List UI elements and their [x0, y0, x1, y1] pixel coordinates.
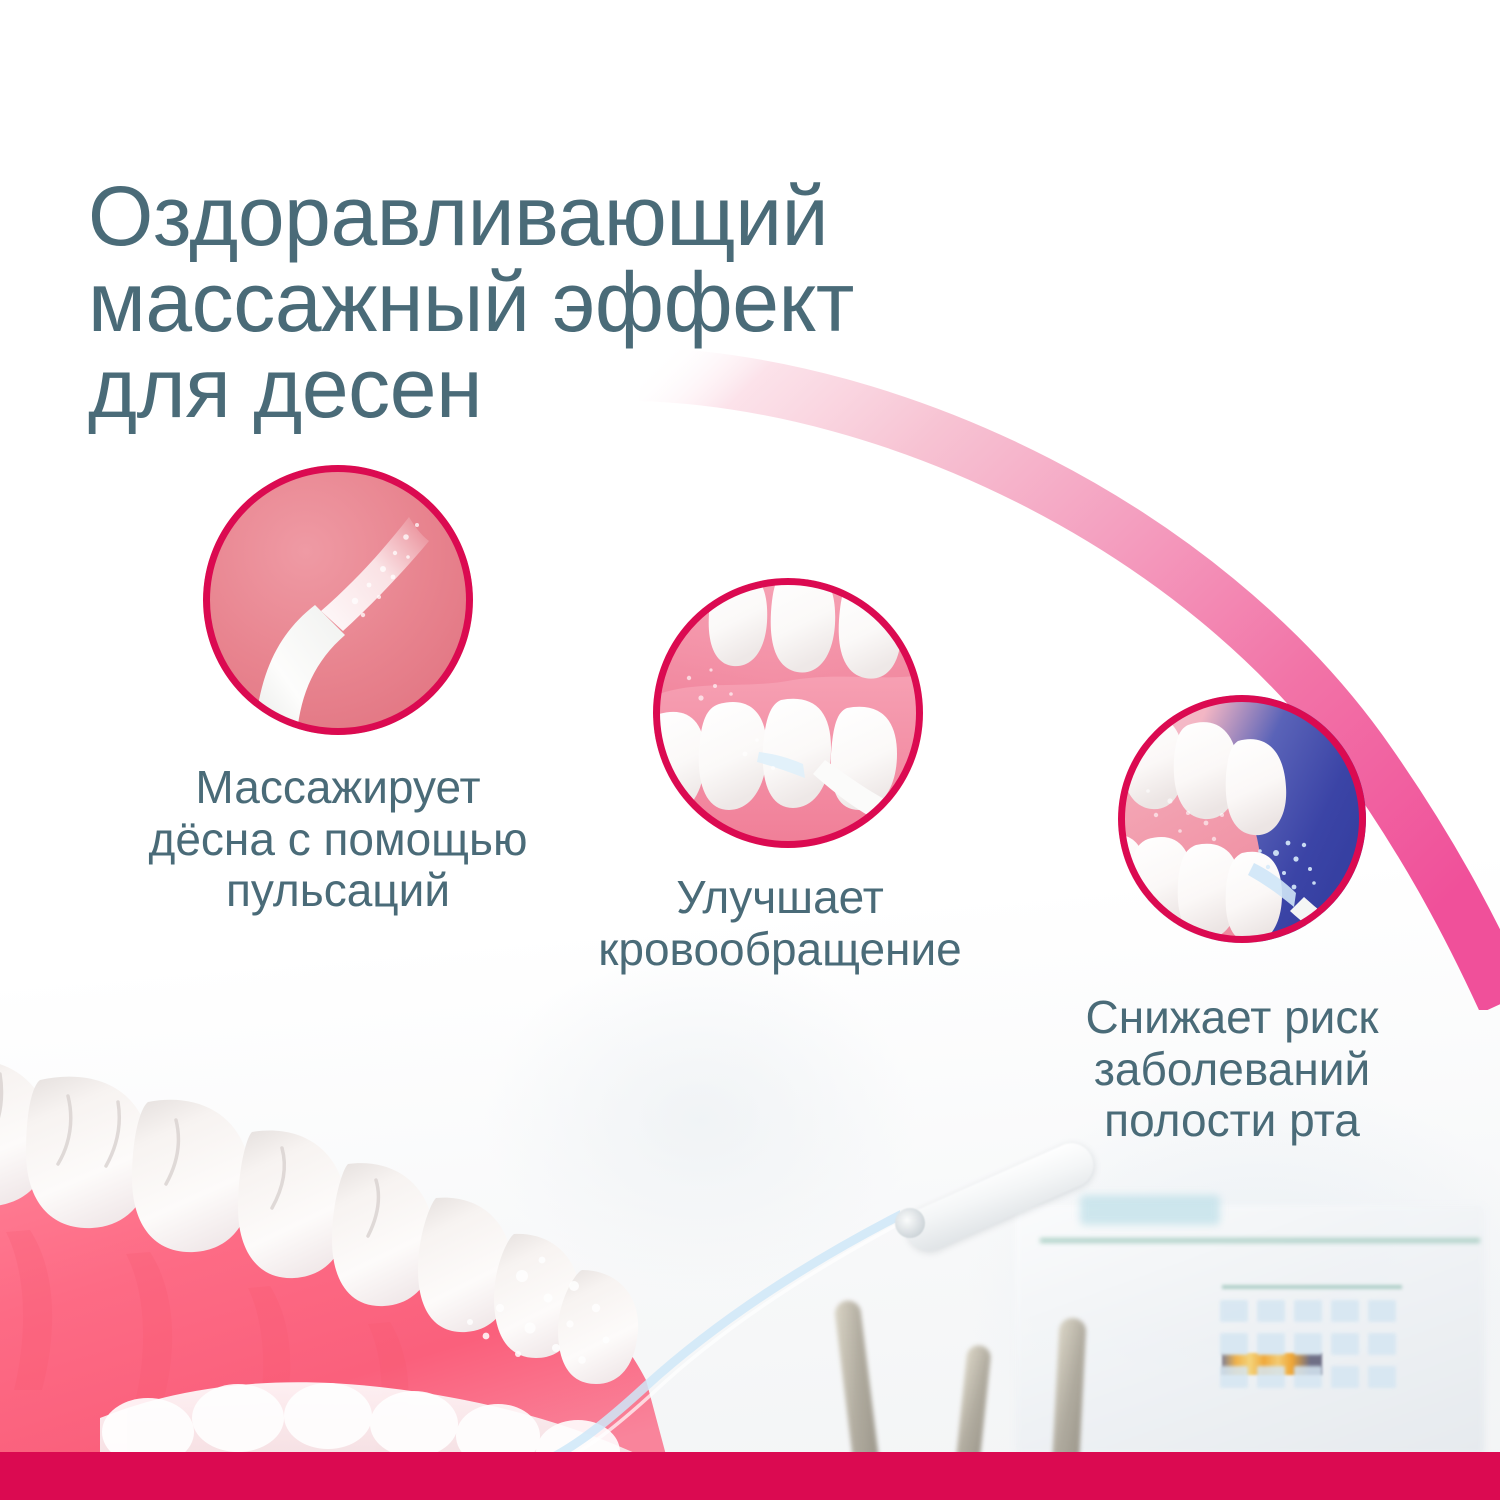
feature-image-massage	[203, 465, 473, 735]
nozzle-spray-illustration	[203, 465, 473, 735]
panel-keypad	[1220, 1300, 1416, 1440]
cabinet-dispenser	[1080, 1195, 1220, 1225]
infographic-canvas: Оздоравливающий массажный эффект для дес…	[0, 0, 1500, 1500]
teeth-waterjet-illustration	[1118, 695, 1366, 943]
bottom-brand-bar	[0, 1452, 1500, 1500]
teeth-gums-nozzle-illustration	[653, 578, 923, 848]
feature-image-disease-risk	[1118, 695, 1366, 943]
feature-caption-circulation: Улучшает кровообращение	[520, 872, 1040, 975]
feature-caption-disease-risk: Снижает риск заболеваний полости рта	[1012, 992, 1452, 1147]
feature-image-circulation	[653, 578, 923, 848]
page-title: Оздоравливающий массажный эффект для дес…	[88, 174, 1098, 431]
cabinet-edge	[1040, 1238, 1480, 1243]
panel-top-strip	[1222, 1285, 1402, 1289]
handpiece-tip	[895, 1208, 925, 1238]
